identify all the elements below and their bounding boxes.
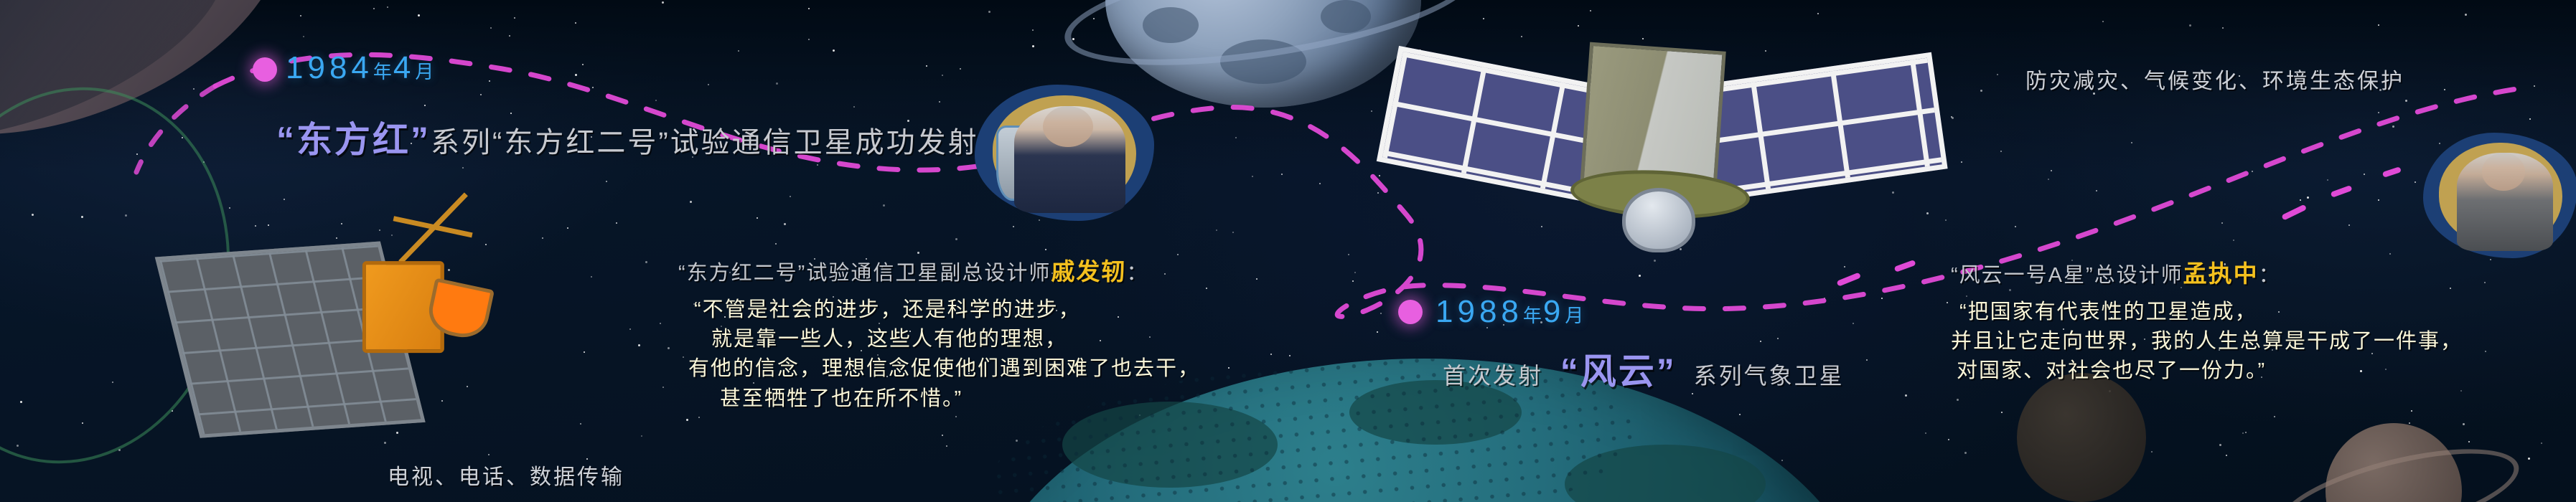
date-label-1984: 1984年4月 xyxy=(286,50,435,86)
headline-highlight: “东方红” xyxy=(276,120,431,160)
quote-line: “不管是社会的进步，还是科学的进步， xyxy=(678,295,1200,325)
date-month-unit: 月 xyxy=(415,61,435,82)
infographic-canvas: 1984年4月 “东方红”系列“东方红二号”试验通信卫星成功发射 “东方红二号”… xyxy=(0,0,2576,502)
date-year-unit: 年 xyxy=(1523,305,1543,326)
headline-rest: 系列“东方红二号”试验通信卫星成功发射 xyxy=(431,127,979,158)
attrib-suffix: ： xyxy=(1126,262,1148,285)
caption-1988: 防灾减灾、气候变化、环境生态保护 xyxy=(2025,63,2404,95)
timeline-node-1988[interactable] xyxy=(1398,300,1423,324)
timeline-node-1984[interactable] xyxy=(253,57,277,82)
planet-dark-small xyxy=(2017,373,2146,502)
headline-highlight: “风云” xyxy=(1560,351,1677,392)
satellite-sensor-dome xyxy=(1622,188,1695,252)
date-year-unit: 年 xyxy=(373,61,393,82)
quote-line: “把国家有代表性的卫星造成， xyxy=(1951,298,2463,327)
attrib-prefix: “风云一号A星”总设计师 xyxy=(1951,264,2183,287)
qi-faren-portrait xyxy=(975,85,1154,221)
fengyun-weather-satellite-illustration xyxy=(1407,7,1938,222)
quote-line: 并且让它走向世界，我的人生总算是干成了一件事， xyxy=(1951,327,2463,356)
headline-1988: 首次发射 “风云” 系列气象卫星 xyxy=(1443,343,1845,394)
quote-line: 就是靠一些人，这些人有他的理想， xyxy=(678,325,1200,354)
attrib-name: 孟执中 xyxy=(2183,260,2259,287)
caption-1984: 电视、电话、数据传输 xyxy=(388,459,624,491)
date-year: 1984 xyxy=(286,50,373,85)
quote-line: 对国家、对社会也尽了一份力。” xyxy=(1951,356,2463,386)
date-label-1988: 1988年9月 xyxy=(1435,294,1585,330)
date-month: 4 xyxy=(393,50,415,85)
quote-line: 甚至牺牲了也在所不惜。” xyxy=(678,384,1200,414)
meng-zhizhong-portrait xyxy=(2423,133,2576,258)
headline-rest: 系列气象卫星 xyxy=(1694,363,1845,389)
quote-attribution: “风云一号A星”总设计师孟执中： xyxy=(1951,255,2463,289)
headline-prefix: 首次发射 xyxy=(1443,363,1543,389)
attrib-prefix: “东方红二号”试验通信卫星副总设计师 xyxy=(678,262,1051,285)
date-month-unit: 月 xyxy=(1565,305,1585,326)
attrib-name: 戚发轫 xyxy=(1051,258,1126,285)
portrait-head xyxy=(2482,153,2525,191)
portrait-head xyxy=(1043,106,1093,147)
headline-1984: “东方红”系列“东方红二号”试验通信卫星成功发射 xyxy=(276,111,979,163)
quote-line: 有他的信念，理想信念促使他们遇到困难了也去干， xyxy=(678,354,1200,384)
quote-attribution: “东方红二号”试验通信卫星副总设计师戚发轫： xyxy=(678,252,1200,287)
date-month: 9 xyxy=(1543,294,1565,329)
quote-block-meng-zhizhong: “风云一号A星”总设计师孟执中： “把国家有代表性的卫星造成， 并且让它走向世界… xyxy=(1951,255,2463,387)
date-year: 1988 xyxy=(1435,294,1523,329)
quote-block-qi-faren: “东方红二号”试验通信卫星副总设计师戚发轫： “不管是社会的进步，还是科学的进步… xyxy=(678,252,1200,414)
attrib-suffix: ： xyxy=(2259,264,2281,287)
